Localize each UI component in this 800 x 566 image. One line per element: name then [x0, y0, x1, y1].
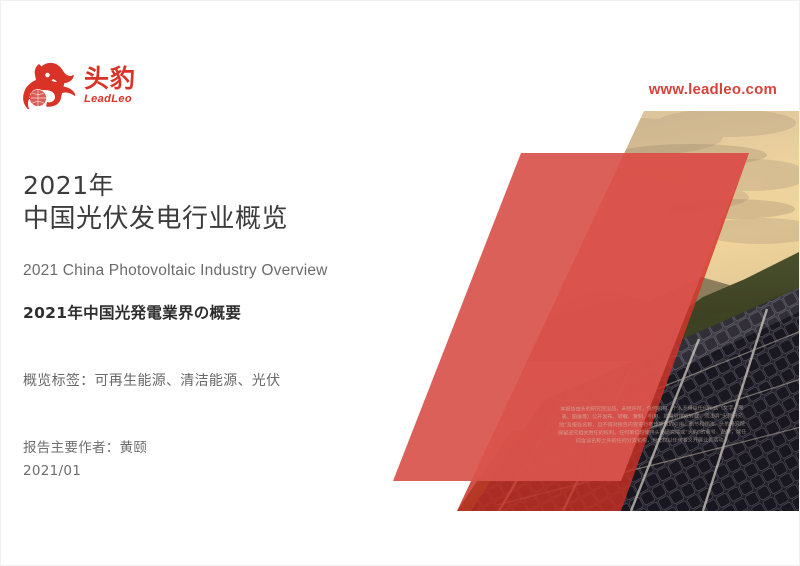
- page-title-year: 2021年: [23, 169, 383, 202]
- logo-english-name: LeadLeo: [84, 94, 132, 105]
- logo-chinese-name: 头豹: [84, 66, 136, 91]
- cover-text-column: 2021年 中国光伏发电行业概览 2021 China Photovoltaic…: [23, 169, 383, 482]
- overview-tags-value: 可再生能源、清洁能源、光伏: [95, 373, 281, 389]
- leopard-head-logo-icon: [23, 61, 75, 109]
- author-name: 报告主要作者：黄颐: [23, 437, 383, 459]
- author-block: 报告主要作者：黄颐 2021/01: [23, 437, 383, 482]
- logo-wordmark: 头豹 LeadLeo: [84, 66, 136, 105]
- cover-artwork: [331, 101, 800, 521]
- publish-date: 2021/01: [23, 460, 383, 482]
- page-title-english: 2021 China Photovoltaic Industry Overvie…: [23, 262, 383, 280]
- overview-tags: 概览标签：可再生能源、清洁能源、光伏: [23, 370, 383, 390]
- overview-tags-label: 概览标签：: [23, 373, 95, 389]
- page-title: 中国光伏发电行业概览: [23, 202, 383, 236]
- website-url-link[interactable]: www.leadleo.com: [649, 81, 777, 98]
- page-title-japanese: 2021年中国光発電業界の概要: [23, 301, 383, 323]
- report-cover-slide: 头豹 LeadLeo www.leadleo.com: [0, 0, 800, 566]
- brand-logo[interactable]: 头豹 LeadLeo: [23, 61, 136, 109]
